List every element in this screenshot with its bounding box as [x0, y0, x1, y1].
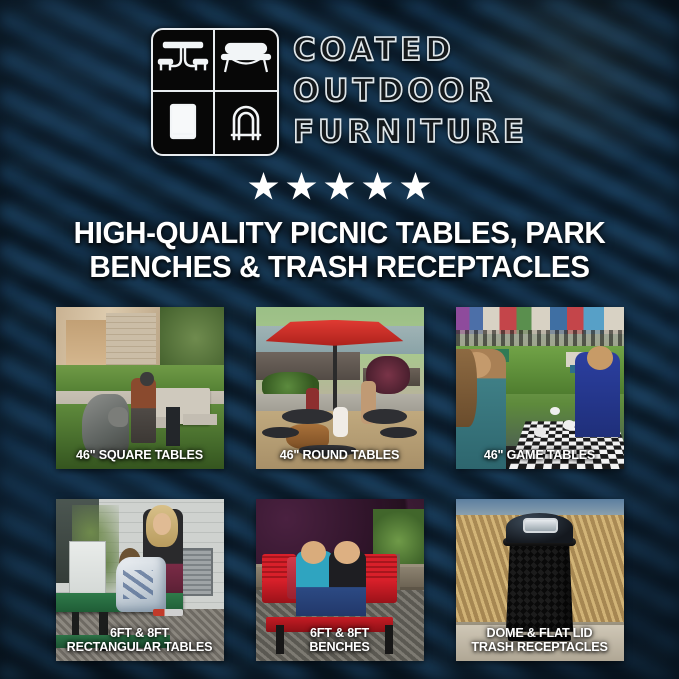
star-icon — [324, 172, 355, 202]
brand-name-line-1: COATED — [293, 30, 528, 71]
bike-rack-icon — [215, 92, 277, 154]
product-tile-round-tables[interactable]: 46" ROUND TABLES — [256, 307, 424, 469]
promo-banner: COATED OUTDOOR FURNITURE HIGH-QUALITY PI… — [0, 0, 679, 679]
caption-line: RECTANGULAR TABLES — [59, 640, 221, 654]
star-icon — [248, 172, 279, 202]
brand-name-line-3: FURNITURE — [293, 112, 528, 153]
banner-content: COATED OUTDOOR FURNITURE HIGH-QUALITY PI… — [0, 0, 679, 661]
product-caption-square-tables: 46" SQUARE TABLES — [56, 448, 224, 462]
product-caption-rectangular-tables: 6FT & 8FT RECTANGULAR TABLES — [56, 626, 224, 654]
product-caption-round-tables: 46" ROUND TABLES — [256, 448, 424, 462]
caption-line: 46" SQUARE TABLES — [59, 448, 221, 462]
star-icon — [400, 172, 431, 202]
product-caption-benches: 6FT & 8FT BENCHES — [256, 626, 424, 654]
caption-line: BENCHES — [259, 640, 421, 654]
brand-logo: COATED OUTDOOR FURNITURE — [0, 0, 679, 156]
product-caption-game-tables: 46" GAME TABLES — [456, 448, 624, 462]
caption-line: TRASH RECEPTACLES — [459, 640, 621, 654]
brand-name: COATED OUTDOOR FURNITURE — [293, 28, 528, 154]
brand-name-line-2: OUTDOOR — [293, 71, 528, 112]
logo-icon-grid — [151, 28, 279, 156]
product-caption-trash-receptacles: DOME & FLAT LID TRASH RECEPTACLES — [456, 626, 624, 654]
product-grid: 46" SQUARE TABLES 46" ROUND TABLE — [56, 307, 624, 661]
product-photo-game-tables — [456, 307, 624, 469]
star-rating — [0, 172, 679, 202]
caption-line: 46" ROUND TABLES — [259, 448, 421, 462]
page-title: HIGH-QUALITY PICNIC TABLES, PARK BENCHES… — [10, 216, 669, 285]
caption-line: 46" GAME TABLES — [459, 448, 621, 462]
trash-receptacle-icon — [153, 92, 215, 154]
product-tile-rectangular-tables[interactable]: 6FT & 8FT RECTANGULAR TABLES — [56, 499, 224, 661]
picnic-table-icon — [153, 30, 215, 92]
caption-line: DOME & FLAT LID — [459, 626, 621, 640]
star-icon — [286, 172, 317, 202]
product-photo-square-tables — [56, 307, 224, 469]
product-tile-trash-receptacles[interactable]: DOME & FLAT LID TRASH RECEPTACLES — [456, 499, 624, 661]
headline-line-1: HIGH-QUALITY PICNIC TABLES, PARK — [35, 216, 643, 250]
star-icon — [362, 172, 393, 202]
headline-line-2: BENCHES & TRASH RECEPTACLES — [35, 250, 643, 284]
caption-line: 6FT & 8FT — [259, 626, 421, 640]
product-tile-benches[interactable]: 6FT & 8FT BENCHES — [256, 499, 424, 661]
product-tile-square-tables[interactable]: 46" SQUARE TABLES — [56, 307, 224, 469]
product-photo-round-tables — [256, 307, 424, 469]
caption-line: 6FT & 8FT — [59, 626, 221, 640]
product-tile-game-tables[interactable]: 46" GAME TABLES — [456, 307, 624, 469]
park-bench-icon — [215, 30, 277, 92]
